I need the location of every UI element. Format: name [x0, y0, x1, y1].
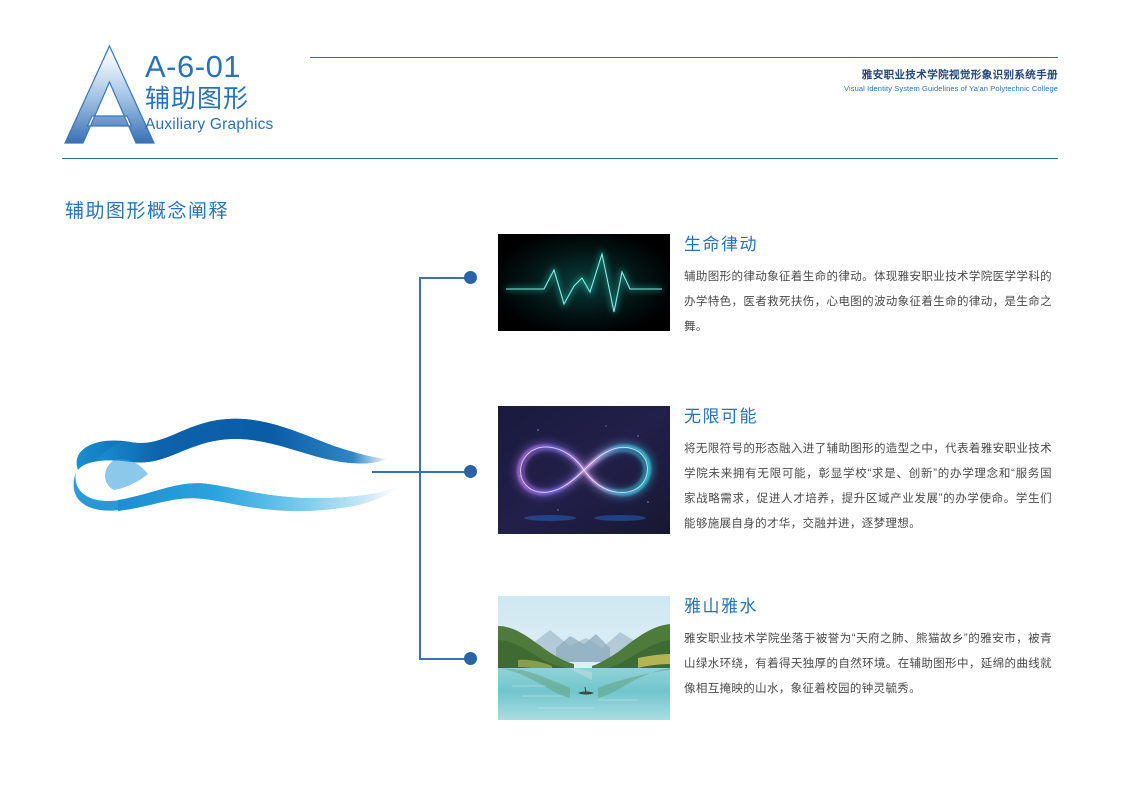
- concept-title: 无限可能: [684, 406, 1052, 428]
- connector-branch-2: [372, 471, 469, 473]
- page-title-cn: 辅助图形: [145, 84, 315, 115]
- concept-text-mountain-water: 雅山雅水 雅安职业技术学院坐落于被誉为“天府之肺、熊猫故乡”的雅安市，被青山绿水…: [684, 596, 1052, 702]
- manual-title-block: 雅安职业技术学院视觉形象识别系统手册 Visual Identity Syste…: [844, 68, 1058, 95]
- page-title-en: Auxiliary Graphics: [145, 115, 315, 135]
- header-title-group: A-6-01 辅助图形 Auxiliary Graphics: [145, 50, 315, 135]
- connector-branch-1: [419, 277, 469, 279]
- mountain-river-landscape-image: [498, 596, 670, 720]
- concept-body: 将无限符号的形态融入进了辅助图形的造型之中，代表着雅安职业技术学院未来拥有无限可…: [684, 437, 1052, 537]
- concept-title: 雅山雅水: [684, 596, 1052, 618]
- page-code: A-6-01: [145, 50, 315, 84]
- concept-text-life-rhythm: 生命律动 辅助图形的律动象征着生命的律动。体现雅安职业技术学院医学学科的办学特色…: [684, 234, 1052, 340]
- concept-body: 雅安职业技术学院坐落于被誉为“天府之肺、熊猫故乡”的雅安市，被青山绿水环绕，有着…: [684, 627, 1052, 702]
- header-divider-top: [310, 57, 1058, 58]
- auxiliary-graphic-ribbon: [58, 408, 398, 533]
- concept-title: 生命律动: [684, 234, 1052, 256]
- infinity-symbol-image: [498, 406, 670, 534]
- concept-body: 辅助图形的律动象征着生命的律动。体现雅安职业技术学院医学学科的办学特色，医者救死…: [684, 265, 1052, 340]
- connector-dot-3: [464, 652, 477, 665]
- connector-branch-3: [419, 658, 469, 660]
- letter-a-logo-icon: [62, 42, 157, 147]
- page-root: A-6-01 辅助图形 Auxiliary Graphics 雅安职业技术学院视…: [0, 0, 1121, 793]
- manual-title-cn: 雅安职业技术学院视觉形象识别系统手册: [844, 68, 1058, 83]
- manual-title-en: Visual Identity System Guidelines of Ya'…: [844, 83, 1058, 95]
- connector-dot-2: [464, 465, 477, 478]
- connector-vertical-line: [419, 278, 421, 660]
- concept-text-infinite-possibility: 无限可能 将无限符号的形态融入进了辅助图形的造型之中，代表着雅安职业技术学院未来…: [684, 406, 1052, 537]
- header-divider-bottom: [62, 158, 1058, 159]
- section-title: 辅助图形概念阐释: [65, 196, 229, 223]
- ecg-heartbeat-image: [498, 234, 670, 331]
- connector-dot-1: [464, 271, 477, 284]
